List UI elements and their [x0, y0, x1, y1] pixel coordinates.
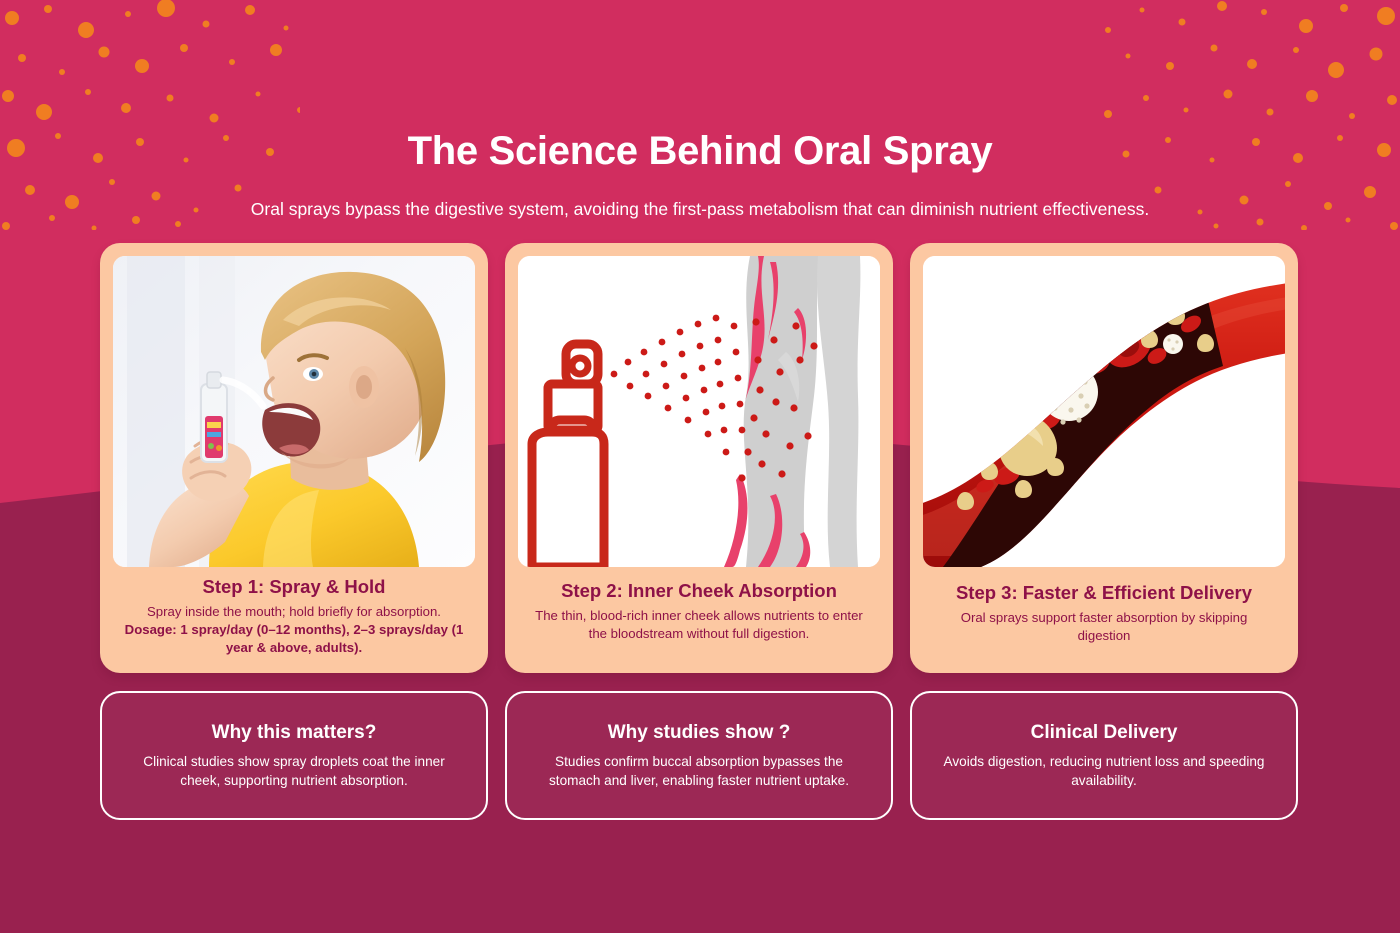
step-1-text: Step 1: Spray & Hold Spray inside the mo…	[113, 567, 475, 657]
note-3-title: Clinical Delivery	[1031, 721, 1178, 745]
steps-row: Step 1: Spray & Hold Spray inside the mo…	[100, 243, 1300, 673]
blood-vessel-cross-section-illustration	[923, 256, 1285, 567]
note-box-1: Why this matters? Clinical studies show …	[100, 691, 488, 820]
infographic-canvas: The Science Behind Oral Spray Oral spray…	[0, 0, 1400, 933]
step-2-text: Step 2: Inner Cheek Absorption The thin,…	[518, 567, 880, 643]
note-box-2: Why studies show ? Studies confirm bucca…	[505, 691, 893, 820]
page-subtitle: Oral sprays bypass the digestive system,…	[0, 197, 1400, 221]
note-1-title: Why this matters?	[212, 721, 377, 745]
step-card-2: Step 2: Inner Cheek Absorption The thin,…	[505, 243, 893, 673]
step-3-text: Step 3: Faster & Efficient Delivery Oral…	[923, 567, 1285, 645]
step-1-title: Step 1: Spray & Hold	[123, 575, 465, 599]
step-3-title: Step 3: Faster & Efficient Delivery	[933, 581, 1275, 605]
spray-bottle-cheek-tissue-illustration	[518, 256, 880, 567]
step-1-desc: Spray inside the mouth; hold briefly for…	[123, 603, 465, 621]
step-1-dosage: Dosage: 1 spray/day (0–12 months), 2–3 s…	[123, 621, 465, 657]
step-2-desc: The thin, blood-rich inner cheek allows …	[528, 607, 870, 643]
notes-row: Why this matters? Clinical studies show …	[100, 691, 1300, 820]
note-1-desc: Clinical studies show spray droplets coa…	[128, 752, 460, 790]
note-2-desc: Studies confirm buccal absorption bypass…	[533, 752, 865, 790]
step-card-3: Step 3: Faster & Efficient Delivery Oral…	[910, 243, 1298, 673]
page-title: The Science Behind Oral Spray	[0, 128, 1400, 174]
child-using-oral-spray-photo	[113, 256, 475, 567]
step-2-title: Step 2: Inner Cheek Absorption	[528, 579, 870, 603]
step-3-desc: Oral sprays support faster absorption by…	[933, 609, 1275, 645]
note-2-title: Why studies show ?	[608, 721, 791, 745]
note-3-desc: Avoids digestion, reducing nutrient loss…	[938, 752, 1270, 790]
step-card-1: Step 1: Spray & Hold Spray inside the mo…	[100, 243, 488, 673]
note-box-3: Clinical Delivery Avoids digestion, redu…	[910, 691, 1298, 820]
